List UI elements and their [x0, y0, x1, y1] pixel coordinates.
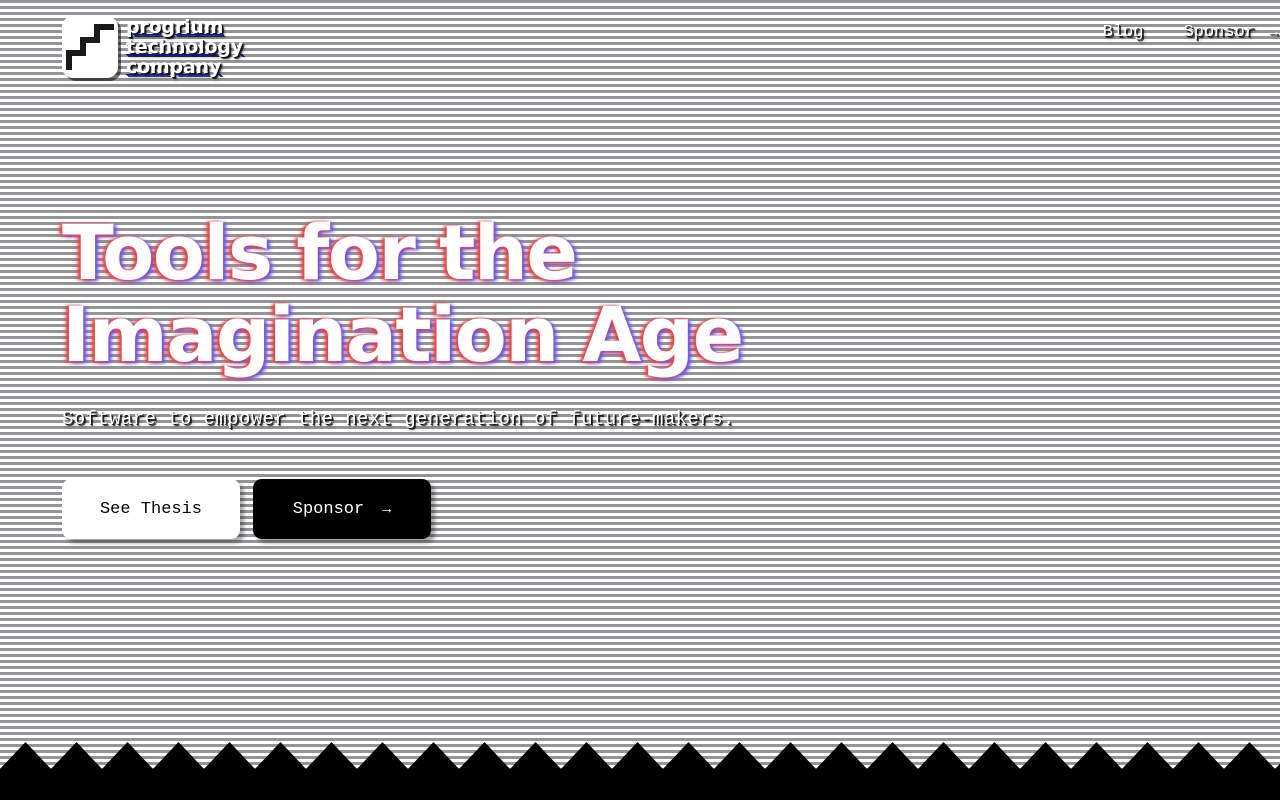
progrium-step-logo-icon — [62, 16, 118, 78]
primary-navigation: Blog Sponsor→ — [1103, 23, 1278, 42]
arrow-right-icon: → — [382, 501, 391, 518]
brand-logo-link[interactable]: progrium technology company — [62, 16, 243, 78]
brand-wordmark: progrium technology company — [126, 17, 243, 77]
nav-link-blog-label: Blog — [1103, 23, 1144, 42]
brand-line-3: company — [126, 57, 243, 77]
headline-line-1: Tools for the — [62, 208, 576, 297]
sponsor-button[interactable]: Sponsor→ — [253, 479, 431, 539]
see-thesis-button[interactable]: See Thesis — [62, 479, 240, 539]
footer-zigzag-band — [0, 742, 1280, 800]
headline-line-2: Imagination Age — [62, 294, 962, 376]
page-root: progrium technology company Blog Sponsor… — [0, 0, 1280, 800]
nav-link-blog[interactable]: Blog — [1103, 23, 1144, 42]
brand-line-1: progrium — [126, 17, 243, 37]
see-thesis-button-label: See Thesis — [100, 500, 202, 519]
site-header: progrium technology company Blog Sponsor… — [0, 0, 1280, 122]
hero-cta-row: See Thesis Sponsor→ — [62, 479, 962, 539]
nav-link-sponsor[interactable]: Sponsor→ — [1184, 23, 1278, 42]
hero-section: Tools for theImagination Age Software to… — [62, 212, 962, 539]
nav-link-sponsor-label: Sponsor — [1184, 23, 1255, 42]
hero-subtitle: Software to empower the next generation … — [62, 408, 962, 430]
page-title: Tools for theImagination Age — [62, 212, 962, 376]
arrow-right-icon: → — [1269, 24, 1278, 41]
sponsor-button-label: Sponsor — [293, 500, 364, 519]
brand-line-2: technology — [126, 37, 243, 57]
